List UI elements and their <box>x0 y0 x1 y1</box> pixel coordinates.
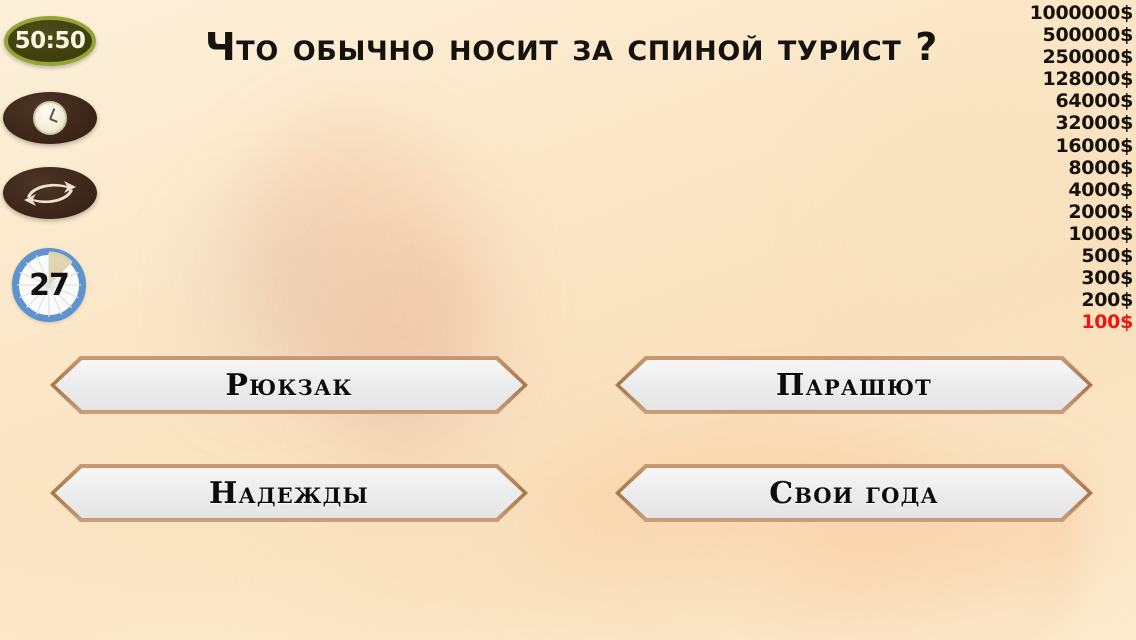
answer-surface: Рюкзак <box>55 360 523 410</box>
timer-value: 27 <box>29 268 69 303</box>
answer-button-c[interactable]: Надежды <box>50 464 528 522</box>
clock-icon <box>33 101 67 135</box>
money-ladder-rung: 500$ <box>903 245 1133 267</box>
answer-surface: Свои года <box>620 468 1088 518</box>
answer-button-a[interactable]: Рюкзак <box>50 356 528 414</box>
question-text: Что обычно носит за спиной турист ? <box>205 22 945 73</box>
money-ladder-rung: 1000000$ <box>903 2 1133 24</box>
money-ladder-rung: 4000$ <box>903 179 1133 201</box>
answer-label-a: Рюкзак <box>225 368 352 403</box>
money-ladder-rung: 100$ <box>903 311 1133 333</box>
answer-surface: Надежды <box>55 468 523 518</box>
lifeline-fifty-fifty[interactable]: 50:50 <box>4 16 96 66</box>
money-ladder-rung: 200$ <box>903 289 1133 311</box>
lifeline-extra-time[interactable] <box>3 92 97 144</box>
swap-arrows-icon <box>19 176 81 210</box>
lifeline-fifty-fifty-label: 50:50 <box>15 28 86 54</box>
answer-label-b: Парашют <box>776 368 932 403</box>
answer-button-d[interactable]: Свои года <box>615 464 1093 522</box>
answer-surface: Парашют <box>620 360 1088 410</box>
timer-badge[interactable]: 27 <box>12 248 86 322</box>
money-ladder-rung: 300$ <box>903 267 1133 289</box>
money-ladder-rung: 250000$ <box>903 46 1133 68</box>
money-ladder: 1000000$500000$250000$128000$64000$32000… <box>903 2 1133 333</box>
answer-label-d: Свои года <box>769 476 939 511</box>
money-ladder-rung: 8000$ <box>903 157 1133 179</box>
money-ladder-rung: 16000$ <box>903 135 1133 157</box>
answer-button-b[interactable]: Парашют <box>615 356 1093 414</box>
money-ladder-rung: 128000$ <box>903 68 1133 90</box>
money-ladder-rung: 1000$ <box>903 223 1133 245</box>
money-ladder-rung: 2000$ <box>903 201 1133 223</box>
lifeline-change-question[interactable] <box>3 167 97 219</box>
quiz-game-screen: 50:50 <box>0 0 1136 640</box>
money-ladder-rung: 32000$ <box>903 112 1133 134</box>
answer-label-c: Надежды <box>209 476 369 511</box>
money-ladder-rung: 500000$ <box>903 24 1133 46</box>
money-ladder-rung: 64000$ <box>903 90 1133 112</box>
